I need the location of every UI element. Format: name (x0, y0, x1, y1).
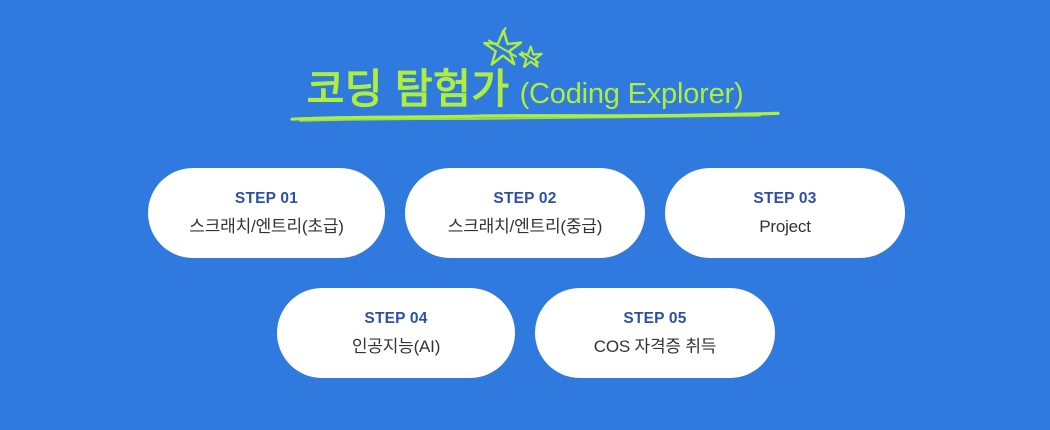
step-card-02[interactable]: STEP 02 스크래치/엔트리(중급) (405, 168, 645, 258)
promo-banner: 코딩 탐험가(Coding Explorer) STEP 01 스크래치/엔트리… (0, 0, 1050, 430)
step-label: Project (759, 218, 811, 235)
underline-stroke (290, 110, 780, 124)
step-label: 스크래치/엔트리(중급) (448, 218, 602, 235)
title-korean: 코딩 탐험가 (307, 66, 510, 112)
step-card-05[interactable]: STEP 05 COS 자격증 취득 (535, 288, 775, 378)
page-title: 코딩 탐험가(Coding Explorer) (0, 55, 1050, 115)
step-number: STEP 03 (753, 191, 816, 207)
step-label: 스크래치/엔트리(초급) (189, 218, 343, 235)
step-card-04[interactable]: STEP 04 인공지능(AI) (277, 288, 515, 378)
step-number: STEP 02 (493, 191, 556, 207)
step-number: STEP 01 (235, 191, 298, 207)
step-card-01[interactable]: STEP 01 스크래치/엔트리(초급) (148, 168, 385, 258)
step-number: STEP 05 (623, 311, 686, 327)
step-number: STEP 04 (364, 311, 427, 327)
step-label: COS 자격증 취득 (594, 338, 717, 355)
step-label: 인공지능(AI) (352, 338, 440, 355)
title-english: (Coding Explorer) (520, 78, 744, 110)
step-card-03[interactable]: STEP 03 Project (665, 168, 905, 258)
